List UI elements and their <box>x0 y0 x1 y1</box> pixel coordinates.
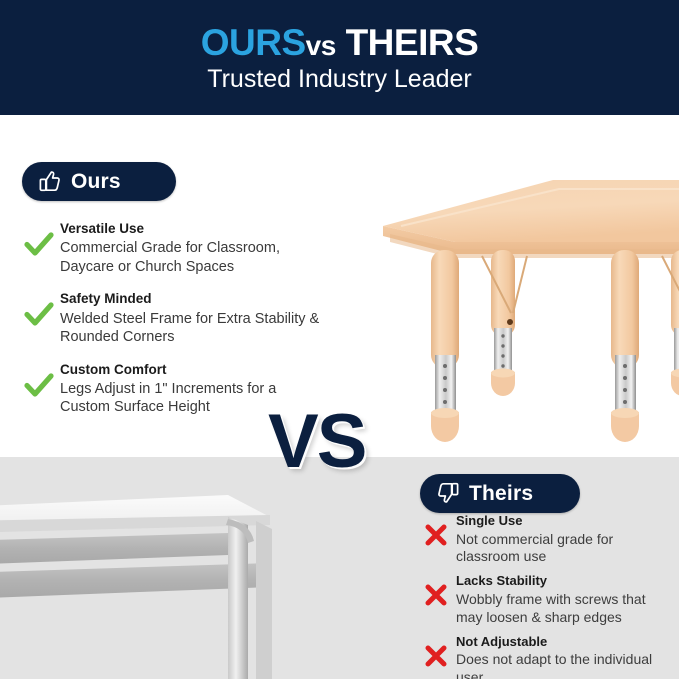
red-x-icon <box>416 512 456 548</box>
feature-title: Versatile Use <box>60 220 328 238</box>
feature-description: Does not adapt to the individual user <box>456 651 674 679</box>
ours-product-image <box>335 150 679 450</box>
vs-divider-label: VS <box>268 404 365 480</box>
green-check-icon <box>18 290 60 328</box>
red-x-icon <box>416 633 456 669</box>
page-subtitle: Trusted Industry Leader <box>207 67 472 92</box>
title-theirs: THEIRS <box>346 22 479 63</box>
ours-badge[interactable]: Ours <box>22 162 176 201</box>
green-check-icon <box>18 220 60 258</box>
feature-title: Safety Minded <box>60 290 328 308</box>
page-title: OURSvs THEIRS <box>201 24 479 61</box>
list-item: Safety Minded Welded Steel Frame for Ext… <box>18 290 328 346</box>
feature-description: Welded Steel Frame for Extra Stability &… <box>60 310 328 347</box>
infographic-canvas: OURSvs THEIRS Trusted Industry Leader <box>0 0 679 679</box>
feature-title: Single Use <box>456 512 674 530</box>
thumbs-down-icon <box>436 481 460 505</box>
title-ours: OURS <box>201 22 306 63</box>
list-item: Single Use Not commercial grade for clas… <box>416 512 674 566</box>
thumbs-up-icon <box>38 169 62 193</box>
feature-description: Wobbly frame with screws that may loosen… <box>456 591 674 627</box>
theirs-product-image <box>0 455 290 679</box>
feature-title: Lacks Stability <box>456 572 674 590</box>
feature-description: Not commercial grade for classroom use <box>456 531 674 567</box>
theirs-badge-label: Theirs <box>469 483 533 504</box>
theirs-badge[interactable]: Theirs <box>420 474 580 513</box>
feature-title: Not Adjustable <box>456 633 674 651</box>
list-item: Lacks Stability Wobbly frame with screws… <box>416 572 674 626</box>
ours-badge-label: Ours <box>71 171 121 192</box>
title-vs: vs <box>306 30 336 61</box>
header-banner: OURSvs THEIRS Trusted Industry Leader <box>0 0 679 115</box>
green-check-icon <box>18 361 60 399</box>
theirs-feature-list: Single Use Not commercial grade for clas… <box>416 512 674 679</box>
list-item: Versatile Use Commercial Grade for Class… <box>18 220 328 276</box>
feature-title: Custom Comfort <box>60 361 328 379</box>
red-x-icon <box>416 572 456 608</box>
list-item: Not Adjustable Does not adapt to the ind… <box>416 633 674 679</box>
feature-description: Commercial Grade for Classroom, Daycare … <box>60 239 328 276</box>
